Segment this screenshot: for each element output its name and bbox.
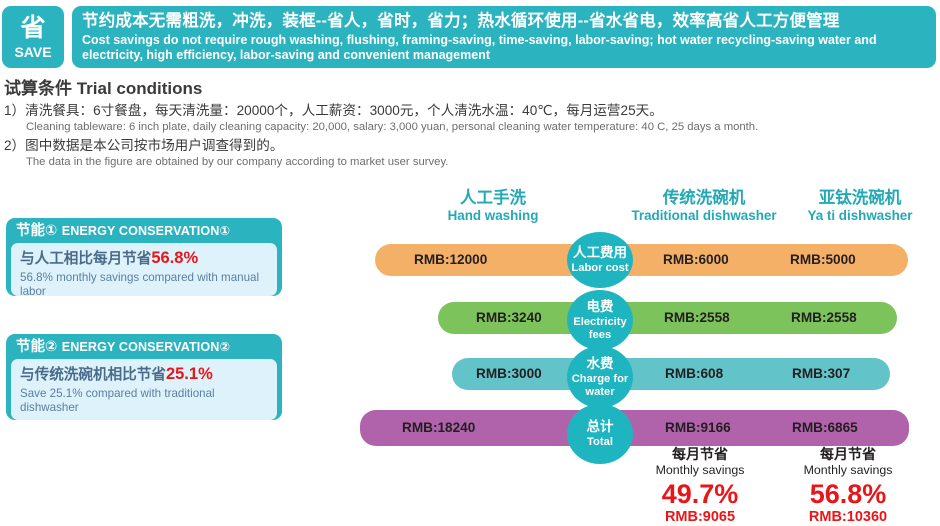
badge-electricity-fees-cn: 电费 bbox=[587, 299, 614, 315]
column-header-yati-dishwasher-en: Ya ti dishwasher bbox=[780, 207, 940, 224]
monthly-savings-yati-en: Monthly savings bbox=[778, 463, 918, 478]
badge-total-en: Total bbox=[587, 436, 613, 449]
value-elec-trad: RMB:2558 bbox=[664, 310, 730, 326]
value-labor-trad: RMB:6000 bbox=[663, 252, 729, 268]
energy-card-2-body-cn-text: 与传统洗碗机相比节省 bbox=[20, 367, 166, 383]
condition-2-en: The data in the figure are obtained by o… bbox=[26, 155, 934, 170]
monthly-savings-traditional-en: Monthly savings bbox=[630, 463, 770, 478]
energy-card-2-header: 节能② ENERGY CONSERVATION② bbox=[11, 338, 277, 356]
energy-card-1-header-cn: 节能① bbox=[16, 223, 57, 239]
condition-2-cn: 2）图中数据是本公司按市场用户调查得到的。 bbox=[4, 137, 934, 155]
badge-electricity-fees-en: Electricity fees bbox=[567, 316, 633, 341]
value-labor-hand: RMB:12000 bbox=[414, 252, 487, 268]
monthly-savings-yati: 每月节省 Monthly savings 56.8% RMB:10360 bbox=[778, 446, 918, 526]
column-header-yati-dishwasher: 亚钛洗碗机 Ya ti dishwasher bbox=[780, 190, 940, 224]
value-water-hand: RMB:3000 bbox=[476, 366, 542, 382]
value-total-yati: RMB:6865 bbox=[792, 420, 858, 436]
header-title-cn: 节约成本无需粗洗，冲洗，装框--省人，省时，省力；热水循环使用--省水省电，效率… bbox=[82, 10, 928, 32]
monthly-savings-traditional: 每月节省 Monthly savings 49.7% RMB:9065 bbox=[630, 446, 770, 526]
energy-card-1-percent: 56.8% bbox=[151, 249, 198, 267]
column-header-hand-washing: 人工手洗 Hand washing bbox=[398, 190, 588, 224]
energy-card-2-body: 与传统洗碗机相比节省25.1% Save 25.1% compared with… bbox=[11, 359, 277, 420]
energy-card-2-header-en: ENERGY CONSERVATION② bbox=[62, 340, 230, 354]
save-logo-en: SAVE bbox=[14, 45, 51, 59]
monthly-savings-traditional-cn: 每月节省 bbox=[630, 446, 770, 463]
value-total-hand: RMB:18240 bbox=[402, 420, 475, 436]
save-logo: 省 SAVE bbox=[2, 6, 64, 68]
badge-labor-cost: 人工费用 Labor cost bbox=[567, 232, 633, 288]
energy-card-2-header-cn: 节能② bbox=[16, 339, 57, 355]
energy-card-1-body-cn-text: 与人工相比每月节省 bbox=[20, 251, 151, 267]
energy-card-1-header: 节能① ENERGY CONSERVATION① bbox=[11, 222, 277, 240]
badge-charge-for-water: 水费 Charge for water bbox=[567, 346, 633, 408]
badge-total-cn: 总计 bbox=[587, 419, 614, 435]
value-total-trad: RMB:9166 bbox=[665, 420, 731, 436]
condition-1-en: Cleaning tableware: 6 inch plate, daily … bbox=[26, 120, 934, 135]
badge-total: 总计 Total bbox=[567, 404, 633, 464]
badge-charge-for-water-cn: 水费 bbox=[587, 356, 614, 372]
save-logo-cn: 省 bbox=[20, 16, 45, 41]
monthly-savings-yati-cn: 每月节省 bbox=[778, 446, 918, 463]
column-header-traditional-dishwasher-cn: 传统洗碗机 bbox=[614, 190, 794, 207]
energy-card-2-body-cn: 与传统洗碗机相比节省25.1% bbox=[20, 365, 269, 385]
column-header-hand-washing-en: Hand washing bbox=[398, 207, 588, 224]
value-labor-yati: RMB:5000 bbox=[790, 252, 856, 268]
value-elec-hand: RMB:3240 bbox=[476, 310, 542, 326]
badge-labor-cost-cn: 人工费用 bbox=[573, 245, 627, 261]
badge-charge-for-water-en: Charge for water bbox=[567, 373, 633, 398]
monthly-savings-traditional-percent: 49.7% bbox=[630, 479, 770, 509]
energy-card-1-body: 与人工相比每月节省56.8% 56.8% monthly savings com… bbox=[11, 243, 277, 296]
condition-1-cn: 1）清洗餐具：6寸餐盘，每天清洗量：20000个，人工薪资：3000元，个人清洗… bbox=[4, 102, 934, 120]
energy-card-2-body-en: Save 25.1% compared with traditional dis… bbox=[20, 387, 269, 415]
energy-conservation-card-2: 节能② ENERGY CONSERVATION② 与传统洗碗机相比节省25.1%… bbox=[6, 334, 282, 420]
badge-labor-cost-en: Labor cost bbox=[571, 262, 628, 275]
column-header-traditional-dishwasher-en: Traditional dishwasher bbox=[614, 207, 794, 224]
energy-card-1-header-en: ENERGY CONSERVATION① bbox=[62, 224, 230, 238]
header-text-box: 节约成本无需粗洗，冲洗，装框--省人，省时，省力；热水循环使用--省水省电，效率… bbox=[72, 6, 936, 68]
energy-card-1-body-cn: 与人工相比每月节省56.8% bbox=[20, 249, 269, 269]
monthly-savings-yati-percent: 56.8% bbox=[778, 479, 918, 509]
trial-conditions-block: 试算条件 Trial conditions 1）清洗餐具：6寸餐盘，每天清洗量：… bbox=[4, 78, 934, 170]
column-header-traditional-dishwasher: 传统洗碗机 Traditional dishwasher bbox=[614, 190, 794, 224]
header-banner: 省 SAVE 节约成本无需粗洗，冲洗，装框--省人，省时，省力；热水循环使用--… bbox=[0, 4, 940, 70]
trial-conditions-title: 试算条件 Trial conditions bbox=[4, 78, 934, 100]
value-water-yati: RMB:307 bbox=[792, 366, 850, 382]
value-water-trad: RMB:608 bbox=[665, 366, 723, 382]
energy-conservation-card-1: 节能① ENERGY CONSERVATION① 与人工相比每月节省56.8% … bbox=[6, 218, 282, 296]
header-title-en: Cost savings do not require rough washin… bbox=[82, 33, 928, 63]
energy-card-2-percent: 25.1% bbox=[166, 365, 213, 383]
value-elec-yati: RMB:2558 bbox=[791, 310, 857, 326]
column-header-yati-dishwasher-cn: 亚钛洗碗机 bbox=[780, 190, 940, 207]
badge-electricity-fees: 电费 Electricity fees bbox=[567, 290, 633, 350]
energy-card-1-body-en: 56.8% monthly savings compared with manu… bbox=[20, 271, 269, 299]
column-header-hand-washing-cn: 人工手洗 bbox=[398, 190, 588, 207]
